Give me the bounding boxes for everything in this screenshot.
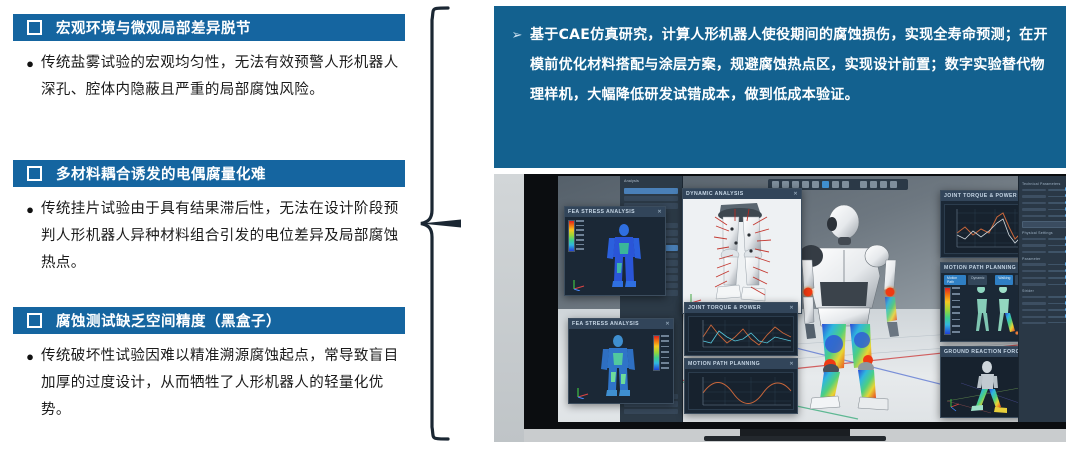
prop-slider[interactable] — [1048, 209, 1066, 211]
prop-label — [1022, 270, 1046, 272]
square-bullet-icon — [27, 20, 42, 35]
slide-root: 宏观环境与微观局部差异脱节 ● 传统盐雾试验的宏观均匀性，无法有效预警人形机器人… — [0, 0, 1080, 447]
prop-slider[interactable] — [1048, 270, 1066, 272]
prop-row[interactable] — [1022, 201, 1066, 205]
color-legend-ticks — [576, 220, 584, 250]
prop-row[interactable] — [1022, 214, 1066, 218]
square-bullet-icon — [27, 166, 42, 181]
grid-tool-icon[interactable] — [870, 181, 877, 188]
dynamic-legs-force-vectors — [683, 199, 801, 313]
color-legend-ticks — [952, 287, 960, 333]
prop-label — [1022, 215, 1046, 217]
camera-tool-icon[interactable] — [890, 181, 897, 188]
technical-verification-button[interactable] — [1022, 221, 1066, 228]
panel-title-label: MOTION PATH PLANNING — [688, 361, 760, 367]
prop-label — [1022, 238, 1046, 240]
prop-row[interactable] — [1022, 295, 1066, 299]
issue-body-text-3: 传统破坏性试验因难以精准溯源腐蚀起点，常导致盲目加厚的过度设计，从而牺牲了人形机… — [41, 343, 405, 424]
cae-nav-title: Analysis — [620, 176, 682, 186]
prop-slider[interactable] — [1048, 264, 1066, 266]
prop-slider[interactable] — [1048, 202, 1066, 204]
prop-label — [1022, 277, 1046, 279]
monitor-bezel: Analysis — [524, 174, 1066, 429]
issue-block-1: 宏观环境与微观局部差异脱节 ● 传统盐雾试验的宏观均匀性，无法有效预警人形机器人… — [13, 14, 405, 104]
color-legend-bar — [568, 220, 575, 252]
prop-row[interactable] — [1022, 208, 1066, 212]
prop-row[interactable] — [1022, 308, 1066, 312]
panel-title-label: JOINT TORQUE & POWER — [944, 193, 1017, 199]
panel-joint-torque-power-bottom[interactable]: JOINT TORQUE & POWER ✕ — [684, 302, 798, 356]
measure-tool-icon[interactable] — [812, 181, 819, 188]
panel-body — [683, 199, 801, 313]
scale-tool-icon[interactable] — [802, 181, 809, 188]
pan-tool-icon[interactable] — [842, 181, 849, 188]
color-legend-bar — [944, 287, 951, 335]
section-tool-icon[interactable] — [832, 181, 839, 188]
prop-slider[interactable] — [1048, 277, 1066, 279]
panel-title-label: GROUND REACTION FORCES — [944, 349, 1027, 355]
prop-slider[interactable] — [1048, 215, 1066, 217]
rotate-tool-icon[interactable] — [792, 181, 799, 188]
panel-body — [569, 329, 673, 403]
prop-group-title: Strider — [1022, 289, 1066, 293]
curly-brace-icon — [412, 0, 490, 447]
prop-row[interactable] — [1022, 269, 1066, 273]
fea-humanoid-mesh — [595, 223, 653, 291]
panel-title-label: JOINT TORQUE & POWER — [688, 305, 761, 311]
torque-chart-svg — [689, 317, 795, 353]
cae-nav-item[interactable] — [624, 188, 678, 194]
prop-label — [1022, 316, 1046, 318]
panel-body — [565, 217, 665, 295]
panel-motion-path-planning-bottom[interactable]: MOTION PATH PLANNING ✕ — [684, 358, 798, 414]
prop-row[interactable] — [1022, 276, 1066, 280]
prop-label — [1022, 208, 1046, 210]
panel-title-label: MOTION PATH PLANNING — [944, 265, 1016, 271]
prop-label — [1022, 251, 1046, 253]
close-icon[interactable]: ✕ — [665, 321, 670, 327]
prop-slider[interactable] — [1048, 189, 1066, 191]
right-solution-panel: ➢ 基于CAE仿真研究，计算人形机器人使役期间的腐蚀损伤，实现全寿命预测；在开模… — [492, 0, 1080, 447]
round-bullet-icon-1: ● — [19, 50, 41, 104]
prop-group-title: Parameter — [1022, 257, 1066, 261]
arrow-bullet-icon: ➢ — [504, 20, 530, 110]
issue-block-2: 多材料耦合诱发的电偶腐量化难 ● 传统挂片试验由于具有结果滞后性，无法在设计阶段… — [13, 160, 405, 277]
close-icon[interactable]: ✕ — [793, 191, 798, 197]
prop-row[interactable] — [1022, 250, 1066, 254]
prop-label — [1022, 202, 1046, 204]
prop-row[interactable] — [1022, 315, 1066, 319]
prop-slider[interactable] — [1048, 316, 1066, 318]
conclusion-callout: ➢ 基于CAE仿真研究，计算人形机器人使役期间的腐蚀损伤，实现全寿命预测；在开模… — [494, 6, 1066, 168]
prop-label — [1022, 296, 1046, 298]
prop-slider[interactable] — [1048, 296, 1066, 298]
motion-chart-svg — [689, 373, 795, 411]
prop-slider[interactable] — [1048, 309, 1066, 311]
prop-slider[interactable] — [1048, 245, 1066, 247]
issue-block-3: 腐蚀测试缺乏空间精度（黑盒子） ● 传统破坏性试验因难以精准溯源腐蚀起点，常导致… — [13, 307, 405, 424]
issue-body-text-1: 传统盐雾试验的宏观均匀性，无法有效预警人形机器人深孔、腔体内隐蔽且严重的局部腐蚀… — [41, 50, 405, 104]
monitor-base — [704, 436, 886, 441]
issue-header-label-2: 多材料耦合诱发的电偶腐量化难 — [56, 163, 266, 184]
prop-label — [1022, 309, 1046, 311]
prop-row[interactable] — [1022, 195, 1066, 199]
issue-header-1: 宏观环境与微观局部差异脱节 — [13, 14, 405, 41]
brace-connector — [412, 0, 490, 447]
prop-row[interactable] — [1022, 263, 1066, 267]
issue-header-2: 多材料耦合诱发的电偶腐量化难 — [13, 160, 405, 187]
panel-dynamic-analysis[interactable]: DYNAMIC ANALYSIS ✕ — [682, 188, 802, 314]
prop-label — [1022, 263, 1046, 265]
room-wall — [494, 174, 524, 442]
prop-row[interactable] — [1022, 283, 1066, 287]
prop-slider[interactable] — [1048, 303, 1066, 305]
prop-label — [1022, 322, 1046, 324]
prop-row[interactable] — [1022, 322, 1066, 324]
prop-label — [1022, 195, 1046, 197]
prop-label — [1022, 302, 1046, 304]
panel-title-label: FEA STRESS ANALYSIS — [572, 321, 639, 327]
issue-body-text-2: 传统挂片试验由于具有结果滞后性，无法在设计阶段预判人形机器人异种材料组合引发的电… — [41, 196, 405, 277]
issue-header-label-3: 腐蚀测试缺乏空间精度（黑盒子） — [56, 310, 281, 331]
cae-simulation-figure: Analysis — [494, 174, 1066, 442]
close-icon[interactable]: ✕ — [789, 305, 794, 311]
prop-slider[interactable] — [1048, 284, 1066, 286]
panel-title-bar: FEA STRESS ANALYSIS ✕ — [569, 319, 673, 329]
prop-row[interactable] — [1022, 188, 1066, 192]
tab-motion-path[interactable]: Motion Path — [944, 275, 966, 285]
prop-row[interactable] — [1022, 244, 1066, 248]
fea-humanoid-mesh — [591, 334, 645, 400]
cae-nav-footer-item[interactable] — [624, 409, 678, 415]
panel-body — [685, 313, 797, 355]
prop-group-title: Physical Settings — [1022, 231, 1066, 235]
prop-label — [1022, 283, 1046, 285]
panel-title-bar: JOINT TORQUE & POWER ✕ — [685, 303, 797, 313]
prop-label — [1022, 244, 1046, 246]
round-bullet-icon-3: ● — [19, 343, 41, 424]
close-icon[interactable]: ✕ — [789, 361, 794, 367]
prop-row[interactable] — [1022, 237, 1066, 241]
issue-body-1: ● 传统盐雾试验的宏观均匀性，无法有效预警人形机器人深孔、腔体内隐蔽且严重的局部… — [13, 41, 405, 104]
left-issues-panel: 宏观环境与微观局部差异脱节 ● 传统盐雾试验的宏观均匀性，无法有效预警人形机器人… — [0, 0, 412, 447]
prop-label — [1022, 189, 1046, 191]
mesh-tool-icon[interactable] — [822, 181, 829, 188]
panel-title-label: FEA STRESS ANALYSIS — [568, 209, 635, 215]
torque-chart — [688, 316, 794, 352]
panel-title-bar: DYNAMIC ANALYSIS ✕ — [683, 189, 801, 199]
move-tool-icon[interactable] — [782, 181, 789, 188]
prop-slider[interactable] — [1048, 238, 1066, 240]
tab-walking[interactable]: Walking — [995, 275, 1013, 285]
mini-axis-icon — [575, 385, 591, 399]
panel-title-bar: MOTION PATH PLANNING ✕ — [685, 359, 797, 369]
close-icon[interactable]: ✕ — [657, 209, 662, 215]
select-tool-icon[interactable] — [772, 181, 779, 188]
prop-slider[interactable] — [1048, 251, 1066, 253]
light-tool-icon[interactable] — [880, 181, 887, 188]
render-tool-icon[interactable] — [860, 181, 867, 188]
issue-header-label-1: 宏观环境与微观局部差异脱节 — [56, 17, 251, 38]
cae-nav-item[interactable] — [624, 196, 678, 202]
prop-group-title: Technical Parameters — [1022, 182, 1066, 186]
panel-title-label: DYNAMIC ANALYSIS — [686, 191, 744, 197]
color-legend-ticks — [661, 335, 669, 369]
panel-title-bar: FEA STRESS ANALYSIS ✕ — [565, 207, 665, 217]
color-legend-bar — [653, 335, 660, 371]
issue-body-3: ● 传统破坏性试验因难以精准溯源腐蚀起点，常导致盲目加厚的过度设计，从而牺牲了人… — [13, 334, 405, 424]
panel-body — [685, 369, 797, 413]
conclusion-text: 基于CAE仿真研究，计算人形机器人使役期间的腐蚀损伤，实现全寿命预测；在开模前优… — [530, 20, 1050, 110]
panel-fea-stress-analysis-top[interactable]: FEA STRESS ANALYSIS ✕ — [564, 206, 666, 296]
issue-body-2: ● 传统挂片试验由于具有结果滞后性，无法在设计阶段预判人形机器人异种材料组合引发… — [13, 187, 405, 277]
square-bullet-icon — [27, 313, 42, 328]
prop-row[interactable] — [1022, 302, 1066, 306]
cae-app-screen: Analysis — [558, 176, 1066, 422]
prop-slider[interactable] — [1048, 196, 1066, 198]
round-bullet-icon-2: ● — [19, 196, 41, 277]
tab-dynamic[interactable]: Dynamic — [968, 275, 987, 285]
motion-chart — [688, 372, 794, 410]
panel-fea-stress-analysis-bottom[interactable]: FEA STRESS ANALYSIS ✕ — [568, 318, 674, 404]
issue-header-3: 腐蚀测试缺乏空间精度（黑盒子） — [13, 307, 405, 334]
cae-properties-sidebar[interactable]: Technical Parameters Physical Settings P… — [1018, 176, 1066, 422]
prop-slider[interactable] — [1048, 322, 1066, 324]
mini-axis-icon — [571, 277, 587, 291]
